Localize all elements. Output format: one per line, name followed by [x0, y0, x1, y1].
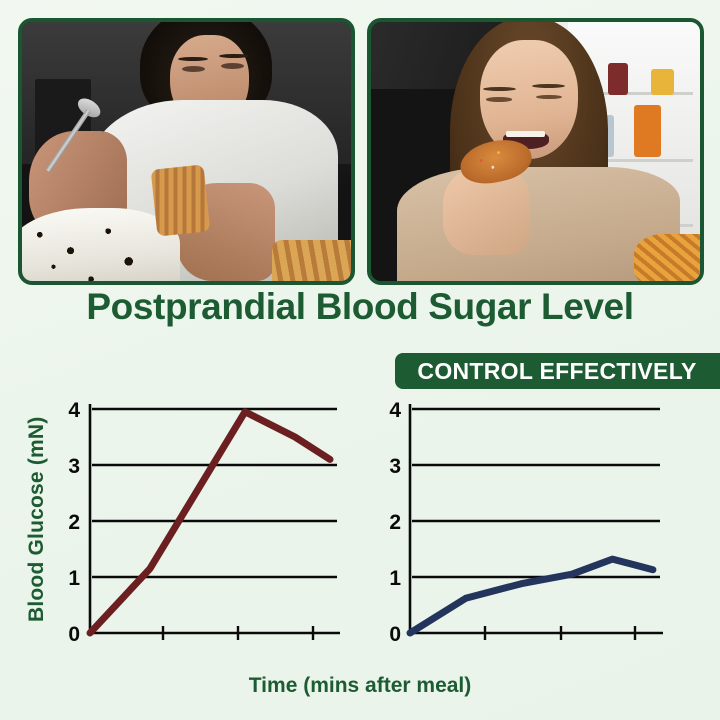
controlled-blood-glucose-chart: 4 3 2 1 0 15 30 45 — [360, 396, 720, 646]
photo-fridge-item — [634, 105, 660, 157]
status-badge: CONTROL EFFECTIVELY — [395, 353, 720, 389]
photo-eyebrow-right — [219, 54, 249, 58]
series-line-uncontrolled — [90, 412, 330, 633]
xtick-label: 15 — [473, 644, 497, 646]
xtick-label: 15 — [151, 644, 175, 646]
x-axis-label: Time (mins after meal) — [0, 674, 720, 698]
ytick-label: 1 — [68, 567, 80, 590]
infographic-root: Postprandial Blood Sugar Level CONTROL E… — [0, 0, 720, 720]
x-tick-labels: 15 30 45 — [151, 644, 325, 646]
xtick-label: 30 — [226, 644, 249, 646]
photo-fridge-item — [651, 69, 674, 95]
ytick-label: 4 — [68, 399, 80, 422]
ytick-label: 0 — [68, 623, 80, 646]
photo-eye-left — [486, 97, 512, 102]
uncontrolled-blood-glucose-chart: 4 3 2 1 0 15 30 45 — [0, 396, 360, 646]
photo-fridge-item — [608, 63, 628, 94]
ytick-label: 3 — [389, 455, 401, 478]
page-title: Postprandial Blood Sugar Level — [0, 286, 720, 328]
ytick-label: 3 — [68, 455, 80, 478]
photo-eye-left — [182, 66, 205, 72]
ytick-label: 0 — [389, 623, 401, 646]
gridlines — [412, 409, 660, 577]
xtick-label: 45 — [623, 644, 647, 646]
photo-pastry — [150, 164, 209, 236]
gridlines — [92, 409, 337, 577]
y-tick-labels: 4 3 2 1 0 — [389, 399, 401, 646]
photo-eye-right — [536, 95, 562, 100]
ytick-label: 2 — [389, 511, 401, 534]
woman-eating-donut-photo — [367, 18, 704, 285]
series-line-controlled — [410, 559, 653, 633]
xtick-label: 30 — [549, 644, 572, 646]
y-tick-labels: 4 3 2 1 0 — [68, 399, 80, 646]
woman-eating-cake-photo — [18, 18, 355, 285]
photo-snack-bag — [634, 234, 704, 285]
ytick-label: 1 — [389, 567, 401, 590]
xtick-label: 45 — [301, 644, 325, 646]
photo-teeth — [506, 131, 545, 137]
x-tick-labels: 15 30 45 — [473, 644, 647, 646]
photo-pastry-plate — [272, 240, 355, 285]
photo-row — [0, 0, 720, 285]
ytick-label: 2 — [68, 511, 80, 534]
photo-eyebrow-left — [483, 87, 516, 91]
ytick-label: 4 — [389, 399, 401, 422]
